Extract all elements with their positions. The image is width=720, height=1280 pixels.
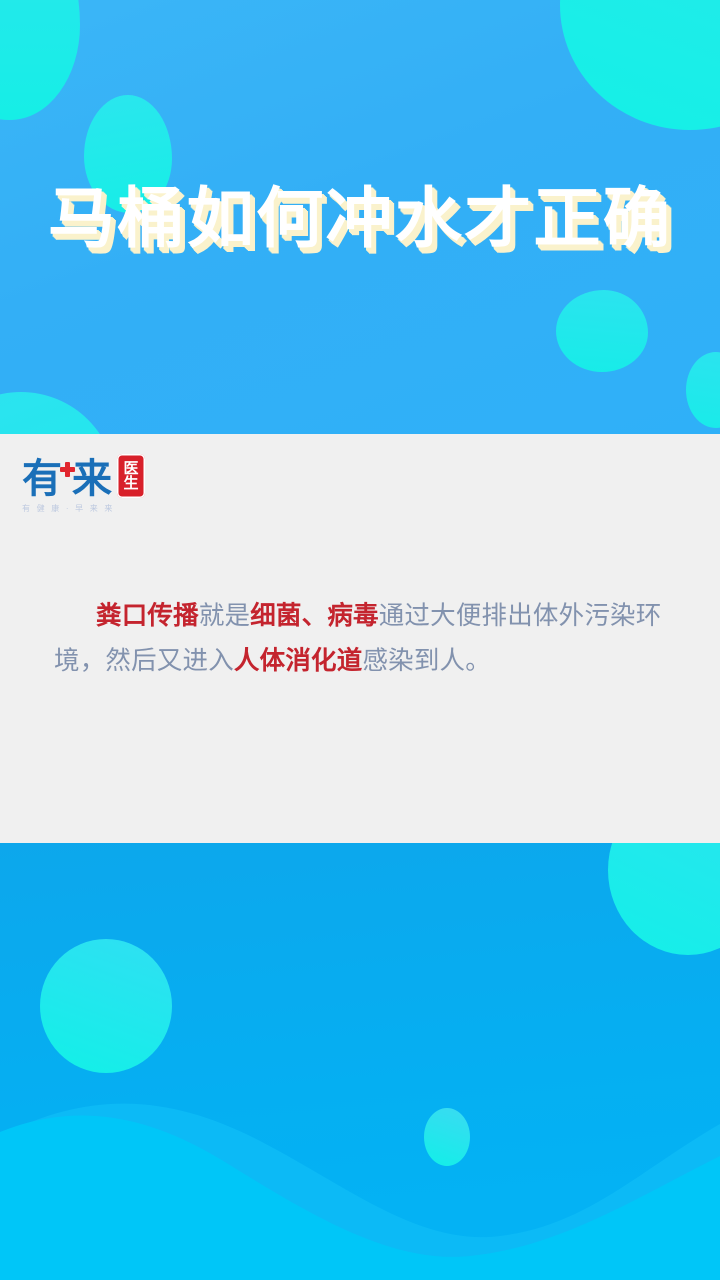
decorative-blob-bottom-left (0, 392, 116, 434)
body-paragraph: 粪口传播就是细菌、病毒通过大便排出体外污染环境，然后又进入人体消化道感染到人。 (54, 594, 680, 684)
decorative-blob-footer-top-right (608, 843, 720, 955)
hero-section: 马桶如何冲水才正确 (0, 0, 720, 434)
decorative-blob-top-right (560, 0, 720, 130)
decorative-wave-front (0, 1070, 720, 1280)
brand-char-you: 有 (22, 460, 62, 498)
brand-badge-doctor: 医 生 (117, 454, 145, 498)
body-text-4: 感染到人。 (362, 647, 491, 675)
body-text-1: 就是 (199, 602, 250, 630)
body-highlight-bacteria-virus: 细菌、病毒 (250, 602, 379, 630)
brand-tagline: 有 健 康 · 早 来 来 (22, 503, 115, 514)
brand-char-lai: 来 (72, 460, 112, 498)
decorative-blob-footer-center (424, 1108, 470, 1166)
brand-logo: 有 来 医 生 有 健 康 · 早 来 来 (22, 452, 145, 514)
brand-badge-char-yi: 医 (123, 461, 138, 476)
body-highlight-digestive-tract: 人体消化道 (234, 647, 363, 675)
footer-section (0, 843, 720, 1280)
content-panel: 有 来 医 生 有 健 康 · 早 来 来 粪口传播就是细菌、病毒通过大便排出体… (0, 434, 720, 843)
decorative-blob-edge-right (686, 352, 720, 428)
brand-badge-char-sheng: 生 (123, 476, 138, 491)
poster-canvas: 马桶如何冲水才正确 有 来 医 生 有 健 康 · 早 来 来 粪口传播就是细菌… (0, 0, 720, 1280)
page-title: 马桶如何冲水才正确 (0, 183, 720, 254)
decorative-blob-mid-right (556, 290, 648, 372)
brand-wordmark: 有 来 (22, 460, 112, 498)
body-text-3: 然后又进入 (105, 647, 234, 675)
decorative-blob-top-left (0, 0, 80, 120)
red-cross-icon (60, 462, 75, 477)
brand-logo-row: 有 来 医 生 (22, 452, 145, 498)
body-highlight-fecal-oral: 粪口传播 (96, 602, 199, 630)
